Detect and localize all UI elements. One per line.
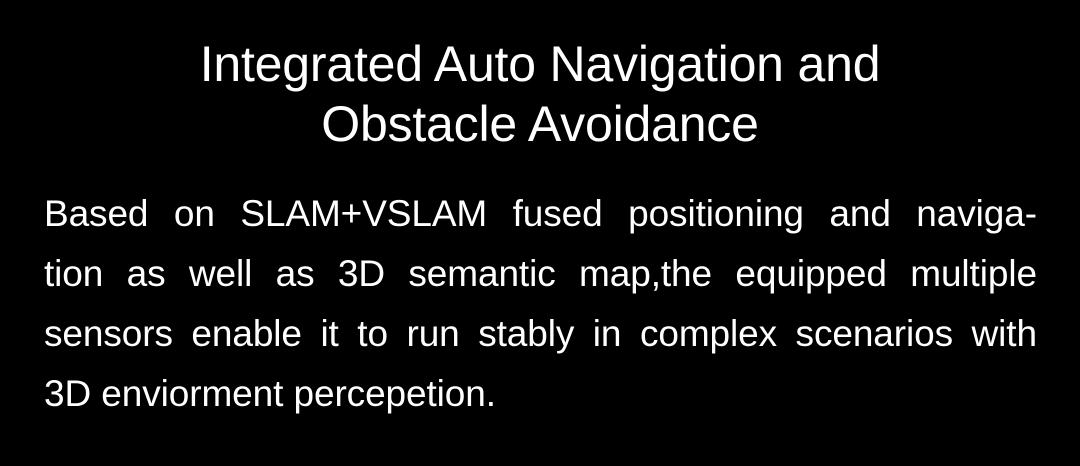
body-word: scenarios [796,304,953,364]
body-line-1: Based on SLAM+VSLAM fused positioning an… [44,184,1037,244]
body-word: stably [478,304,574,364]
body-word: map,the [579,244,712,304]
body-word: sensors [44,304,173,364]
body-word: with [972,304,1037,364]
body-word: fused [513,184,603,244]
body-word: Based [44,184,148,244]
body-word: as [127,244,166,304]
body-word: 3D [338,244,385,304]
body-word: on [174,184,215,244]
body-word: as [276,244,315,304]
slide-title: Integrated Auto Navigation and Obstacle … [0,34,1080,154]
body-word: enable [191,304,302,364]
body-word: in [593,304,622,364]
body-line-2: tion as well as 3D semantic map,the equi… [44,244,1037,304]
body-word: SLAM+VSLAM [240,184,487,244]
body-word: positioning [628,184,804,244]
title-line-2: Obstacle Avoidance [0,94,1080,154]
body-word: well [189,244,252,304]
body-word: naviga- [916,184,1037,244]
body-word: equipped [735,244,886,304]
body-word: complex [640,304,777,364]
slide-body: Based on SLAM+VSLAM fused positioning an… [44,184,1037,424]
body-word: tion [44,244,103,304]
body-word: and [829,184,890,244]
body-word: it [320,304,338,364]
body-word: to [357,304,388,364]
body-line-4: 3D enviorment percepetion. [44,364,1037,424]
body-word: semantic [408,244,555,304]
body-line-3: sensors enable it to run stably in compl… [44,304,1037,364]
title-line-1: Integrated Auto Navigation and [0,34,1080,94]
body-word: run [406,304,459,364]
slide-root: Integrated Auto Navigation and Obstacle … [0,0,1080,466]
body-word: multiple [910,244,1037,304]
